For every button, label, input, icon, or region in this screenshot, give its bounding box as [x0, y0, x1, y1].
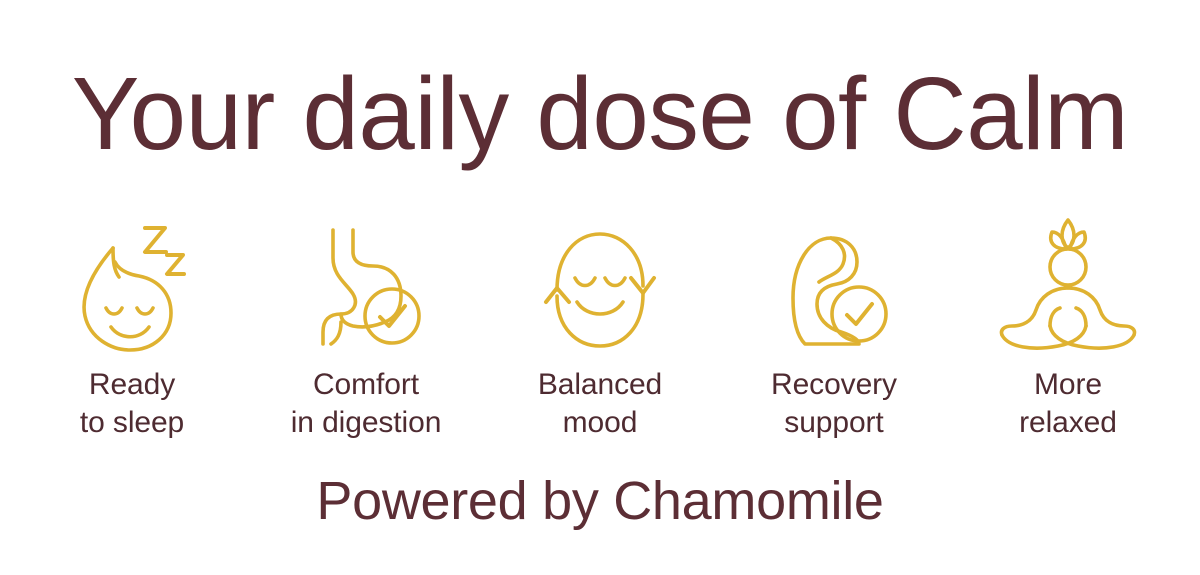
- sleeping-face-zzz-icon: [62, 214, 202, 354]
- benefit-label-line2: support: [784, 406, 883, 439]
- flexed-bicep-check-icon: [764, 214, 904, 354]
- benefit-label-line2: relaxed: [1019, 406, 1117, 439]
- benefit-label-line1: Ready: [89, 368, 175, 401]
- benefit-label: Recoverysupport: [771, 366, 897, 443]
- meditation-lotus-icon: [998, 214, 1138, 354]
- benefit-label-line1: Comfort: [313, 368, 419, 401]
- benefit-label-line1: More: [1034, 368, 1102, 401]
- stomach-check-icon: [296, 214, 436, 354]
- benefit-item-more-relaxed: Morerelaxed: [962, 214, 1174, 443]
- balanced-mood-face-icon: [530, 214, 670, 354]
- benefit-label-line1: Balanced: [538, 368, 662, 401]
- promo-banner: Your daily dose of Calm: [0, 0, 1200, 575]
- benefit-label-line2: mood: [563, 406, 638, 439]
- benefit-label: Morerelaxed: [1019, 366, 1117, 443]
- benefit-label: Readyto sleep: [80, 366, 184, 443]
- page-title: Your daily dose of Calm: [9, 62, 1191, 165]
- benefits-row: Readyto sleep Comfortin digestion: [26, 214, 1174, 443]
- benefit-label: Comfortin digestion: [291, 366, 442, 443]
- benefit-label: Balancedmood: [538, 366, 662, 443]
- benefit-item-recovery-support: Recoverysupport: [728, 214, 940, 443]
- powered-by-tagline: Powered by Chamomile: [0, 474, 1200, 528]
- benefit-item-ready-to-sleep: Readyto sleep: [26, 214, 238, 443]
- benefit-label-line1: Recovery: [771, 368, 897, 401]
- benefit-label-line2: in digestion: [291, 406, 442, 439]
- benefit-item-comfort-in-digestion: Comfortin digestion: [260, 214, 472, 443]
- benefit-label-line2: to sleep: [80, 406, 184, 439]
- benefit-item-balanced-mood: Balancedmood: [494, 214, 706, 443]
